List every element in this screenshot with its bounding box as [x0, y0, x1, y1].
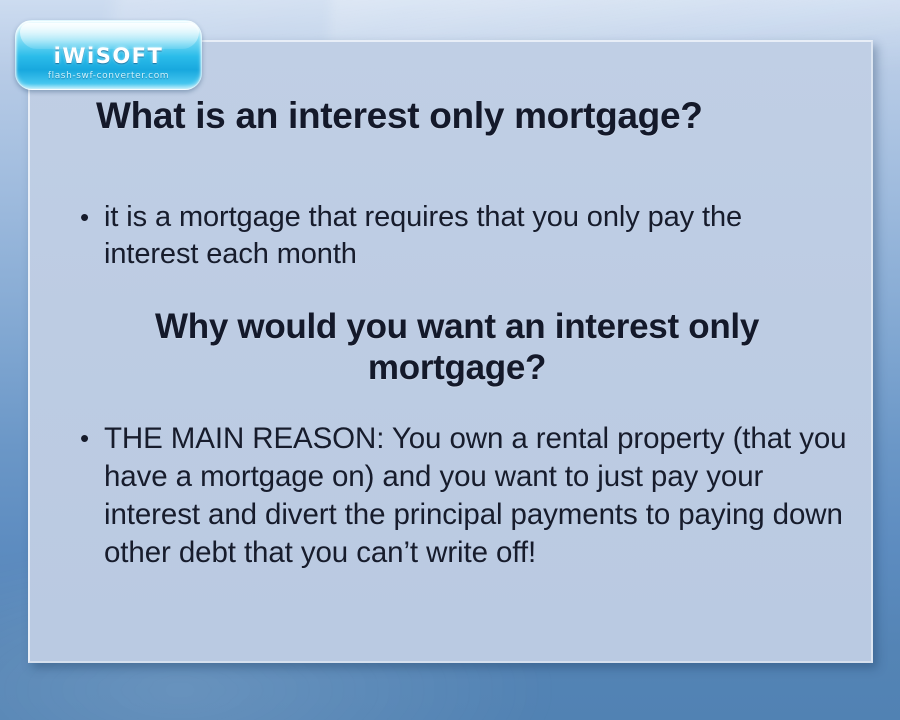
watermark-logo: iWiSOFT flash-swf-converter.com	[15, 20, 202, 90]
logo-wordmark: iWiSOFT	[16, 44, 201, 68]
list-item: • THE MAIN REASON: You own a rental prop…	[74, 420, 866, 572]
slide-body: What is an interest only mortgage? • it …	[30, 42, 871, 661]
bullet-point-icon: •	[74, 199, 104, 236]
page-title: What is an interest only mortgage?	[96, 94, 836, 138]
logo-website-label: flash-swf-converter.com	[16, 71, 201, 81]
list-item-text: THE MAIN REASON: You own a rental proper…	[104, 420, 866, 572]
list-item: • it is a mortgage that requires that yo…	[74, 199, 834, 273]
list-item-text: it is a mortgage that requires that you …	[104, 199, 834, 273]
section-heading: Why would you want an interest only mort…	[92, 306, 822, 388]
slide-content-panel: What is an interest only mortgage? • it …	[28, 40, 873, 663]
bullet-point-icon: •	[74, 420, 104, 457]
slide-viewport: What is an interest only mortgage? • it …	[0, 0, 900, 720]
